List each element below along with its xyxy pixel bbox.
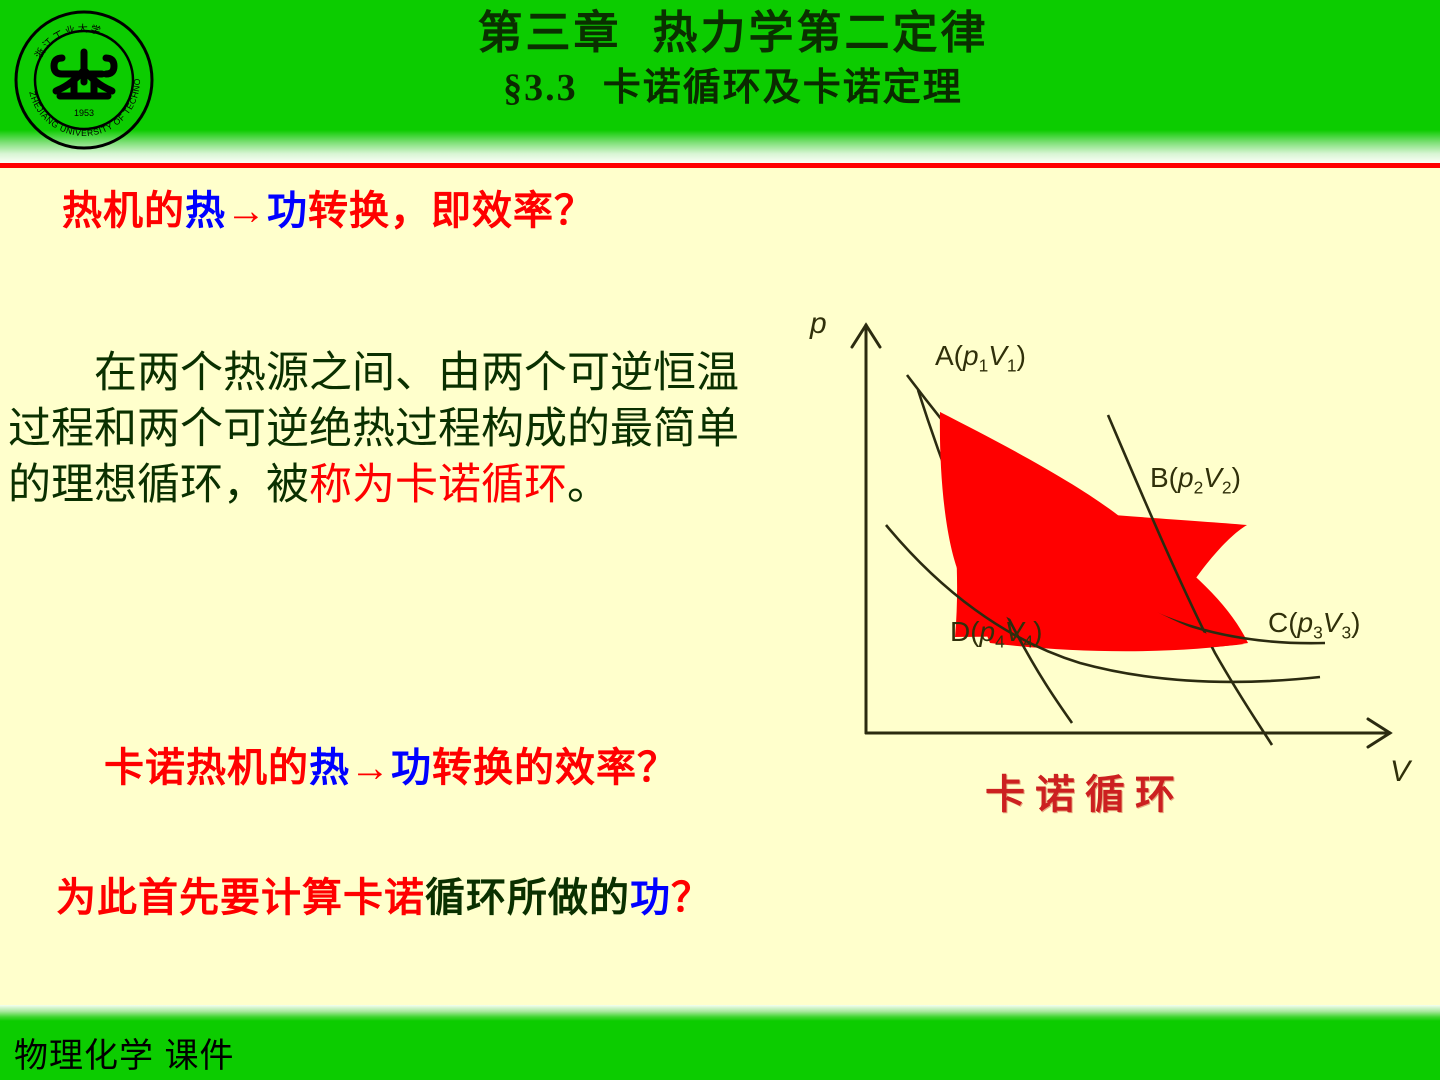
q3-part-b: 循环所做的 [425,876,630,920]
point-label-D: D(p4V4) [950,616,1042,653]
section-symbol: § [503,67,524,109]
section-subtitle: §3.3 卡诺循环及卡诺定理 [168,62,1298,114]
header-gradient-fade [0,130,1440,163]
q1-arrow-icon: → [226,189,267,233]
q1-work-word: 功 [267,189,308,233]
question-line-2: 卡诺热机的热→功转换的效率？ [104,735,678,793]
q3-part-d: ？ [671,876,712,920]
carnot-pv-plot [790,285,1430,830]
footer-label: 物理化学 课件 [14,1028,234,1077]
point-label-A: A(p1V1) [935,340,1026,377]
svg-text:浙江工业大学: 浙江工业大学 [33,22,104,61]
svg-text:1953: 1953 [74,108,94,118]
q2-part-a: 卡诺热机的 [104,746,309,790]
diagram-caption: 卡诺循环 [985,762,1185,820]
header-title-block: 第三章 热力学第二定律 §3.3 卡诺循环及卡诺定理 [168,4,1298,114]
section-subtitle-text: 卡诺循环及卡诺定理 [603,67,963,109]
q3-part-a: 为此首先要计算卡诺 [56,876,425,920]
q2-part-d: 转换的效率？ [432,746,678,790]
carnot-cycle-diagram: A(p1V1) B(p2V2) C(p3V3) D(p4V4) p V [790,285,1430,830]
header-red-rule [0,163,1440,168]
q1-part-a: 热机的 [62,189,185,233]
definition-paragraph: 在两个热源之间、由两个可逆恒温过程和两个可逆绝热过程构成的最简单的理想循环，被称… [8,345,768,513]
page-title: 第三章 热力学第二定律 [168,4,1298,62]
point-label-B: B(p2V2) [1150,462,1241,499]
section-number: 3.3 [524,67,578,109]
footer-gradient-fade [0,1005,1440,1021]
paragraph-highlight: 称为卡诺循环 [309,461,567,509]
q2-arrow-icon: → [350,746,391,790]
y-axis-label: p [810,307,827,341]
question-line-1: 热机的热→功转换，即效率？ [62,178,595,236]
q1-part-d: 转换，即效率？ [308,189,595,233]
q2-work-word: 功 [391,746,432,790]
question-line-3: 为此首先要计算卡诺循环所做的功？ [56,865,712,923]
seal-icon: 浙江工业大学 ZHEJIANG UNIVERSITY OF TECHNOLOGY… [12,8,156,152]
point-label-C: C(p3V3) [1268,607,1360,644]
x-axis-label: V [1390,755,1410,789]
q3-work-word: 功 [630,876,671,920]
q2-heat-word: 热 [309,746,350,790]
paragraph-text-2: 。 [567,461,610,509]
university-seal-logo: 浙江工业大学 ZHEJIANG UNIVERSITY OF TECHNOLOGY… [12,8,156,152]
q1-heat-word: 热 [185,189,226,233]
